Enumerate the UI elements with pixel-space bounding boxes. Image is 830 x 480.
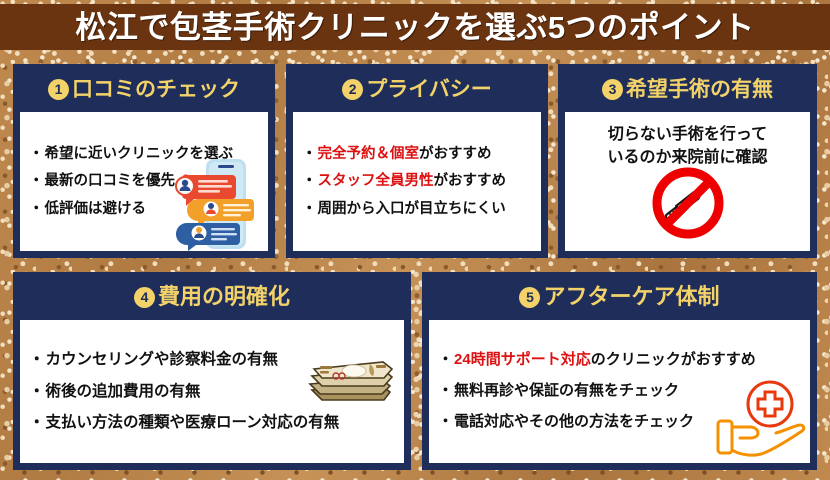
point-card-2: 2 プライバシー ・完全予約＆個室がおすすめ ・スタッフ全員男性がおすすめ ・周…	[286, 64, 548, 258]
card-4-heading: 4 費用の明確化	[134, 286, 290, 308]
bullet-text: 術後の追加費用の有無	[46, 383, 201, 400]
bullet-dot: ・	[29, 351, 45, 368]
card-5-heading-label: アフターケア体制	[543, 286, 719, 308]
bullet-dot: ・	[29, 383, 45, 400]
bullet-text: がおすすめ	[419, 146, 492, 162]
bullet-text: 無料再診や保証の有無をチェック	[454, 382, 679, 399]
bullet-dot: ・	[302, 146, 317, 162]
card-4-body: ・カウンセリングや診察料金の有無 ・術後の追加費用の有無 ・支払い方法の種類や医…	[20, 320, 404, 463]
bullet-text: 電話対応やその他の方法をチェック	[454, 413, 694, 430]
card-1-bullet-list: ・希望に近いクリニックを選ぶ ・最新の口コミを優先 ・低評価は避ける	[20, 136, 268, 226]
card-1-heading-label: 口コミのチェック	[72, 79, 240, 100]
card-3-body: 切らない手術を行って いるのか来院前に確認	[565, 112, 810, 251]
point-card-3: 3 希望手術の有無 切らない手術を行って いるのか来院前に確認	[558, 64, 817, 258]
list-item: ・最新の口コミを優先	[29, 172, 268, 190]
page-title: 松江で包茎手術クリニックを選ぶ5つのポイント	[75, 12, 754, 43]
card-3-header: 3 希望手術の有無	[560, 66, 815, 112]
point-card-1: 1 口コミのチェック ・希望に近いクリニックを選ぶ ・最新の口コミを優先 ・低評…	[13, 64, 275, 258]
card-2-body: ・完全予約＆個室がおすすめ ・スタッフ全員男性がおすすめ ・周囲から入口が目立ち…	[293, 112, 541, 251]
bullet-text: がおすすめ	[434, 173, 507, 189]
card-5-body: ・24時間サポート対応のクリニックがおすすめ ・無料再診や保証の有無をチェック …	[429, 320, 810, 463]
list-item: ・カウンセリングや診察料金の有無	[29, 350, 404, 369]
list-item: ・スタッフ全員男性がおすすめ	[302, 172, 541, 190]
bullet-text: カウンセリングや診察料金の有無	[46, 351, 279, 368]
list-item: ・周囲から入口が目立ちにくい	[302, 200, 541, 218]
card-5-heading: 5 アフターケア体制	[519, 286, 719, 308]
card-1-number-badge: 1	[48, 79, 69, 100]
card-2-heading-label: プライバシー	[366, 79, 492, 100]
card-3-text: 切らない手術を行って いるのか来院前に確認	[565, 124, 810, 169]
card-2-bullet-list: ・完全予約＆個室がおすすめ ・スタッフ全員男性がおすすめ ・周囲から入口が目立ち…	[293, 136, 541, 226]
card-4-number-badge: 4	[134, 287, 155, 308]
bullet-dot: ・	[29, 146, 44, 162]
no-scalpel-icon	[651, 166, 725, 240]
bullet-text-highlight: 完全予約＆個室	[318, 146, 420, 162]
bullet-text-highlight: スタッフ全員男性	[318, 173, 434, 189]
bullet-dot: ・	[29, 173, 44, 189]
card-2-heading: 2 プライバシー	[342, 79, 492, 100]
list-item: ・支払い方法の種類や医療ローン対応の有無	[29, 413, 404, 432]
bullet-text: 周囲から入口が目立ちにくい	[318, 201, 506, 217]
list-item: ・低評価は避ける	[29, 200, 268, 218]
bullet-text: 支払い方法の種類や医療ローン対応の有無	[46, 414, 340, 431]
bullet-text: 低評価は避ける	[45, 201, 147, 217]
card-1-heading: 1 口コミのチェック	[48, 79, 240, 100]
bullet-dot: ・	[438, 382, 453, 399]
list-item: ・術後の追加費用の有無	[29, 382, 404, 401]
card-4-header: 4 費用の明確化	[15, 274, 409, 320]
bullet-dot: ・	[29, 414, 45, 431]
bullet-text: のクリニックがおすすめ	[591, 351, 756, 368]
list-item: ・無料再診や保証の有無をチェック	[438, 382, 810, 401]
bullet-text-highlight: 24時間サポート対応	[454, 351, 591, 368]
card-3-heading: 3 希望手術の有無	[602, 79, 773, 100]
point-card-4: 4 費用の明確化 ・カウンセリングや診察料金の有無 ・術後の追加費用の有無 ・支…	[13, 272, 411, 470]
card-4-bullet-list: ・カウンセリングや診察料金の有無 ・術後の追加費用の有無 ・支払い方法の種類や医…	[20, 338, 404, 444]
list-item: ・電話対応やその他の方法をチェック	[438, 413, 810, 432]
bullet-dot: ・	[302, 173, 317, 189]
bullet-dot: ・	[438, 351, 453, 368]
title-banner: 松江で包茎手術クリニックを選ぶ5つのポイント	[0, 4, 830, 50]
bullet-dot: ・	[29, 201, 44, 217]
card-4-heading-label: 費用の明確化	[158, 286, 290, 308]
list-item: ・希望に近いクリニックを選ぶ	[29, 145, 268, 163]
card-3-text-line-1: 切らない手術を行って	[608, 126, 767, 143]
card-3-text-line-2: いるのか来院前に確認	[607, 149, 767, 166]
list-item: ・完全予約＆個室がおすすめ	[302, 145, 541, 163]
list-item: ・24時間サポート対応のクリニックがおすすめ	[438, 351, 810, 370]
card-1-header: 1 口コミのチェック	[15, 66, 273, 112]
card-2-number-badge: 2	[342, 79, 363, 100]
infographic-page: 松江で包茎手術クリニックを選ぶ5つのポイント 1 口コミのチェック ・希望に近い…	[0, 0, 830, 480]
card-3-heading-label: 希望手術の有無	[626, 79, 773, 100]
bullet-text: 最新の口コミを優先	[45, 173, 176, 189]
card-5-number-badge: 5	[519, 287, 540, 308]
bullet-text: 希望に近いクリニックを選ぶ	[45, 146, 234, 162]
card-3-number-badge: 3	[602, 79, 623, 100]
bullet-dot: ・	[438, 413, 453, 430]
card-1-body: ・希望に近いクリニックを選ぶ ・最新の口コミを優先 ・低評価は避ける	[20, 112, 268, 251]
bullet-dot: ・	[302, 201, 317, 217]
card-5-header: 5 アフターケア体制	[424, 274, 815, 320]
point-card-5: 5 アフターケア体制 ・24時間サポート対応のクリニックがおすすめ ・無料再診や…	[422, 272, 817, 470]
card-5-bullet-list: ・24時間サポート対応のクリニックがおすすめ ・無料再診や保証の有無をチェック …	[429, 339, 810, 443]
card-2-header: 2 プライバシー	[288, 66, 546, 112]
